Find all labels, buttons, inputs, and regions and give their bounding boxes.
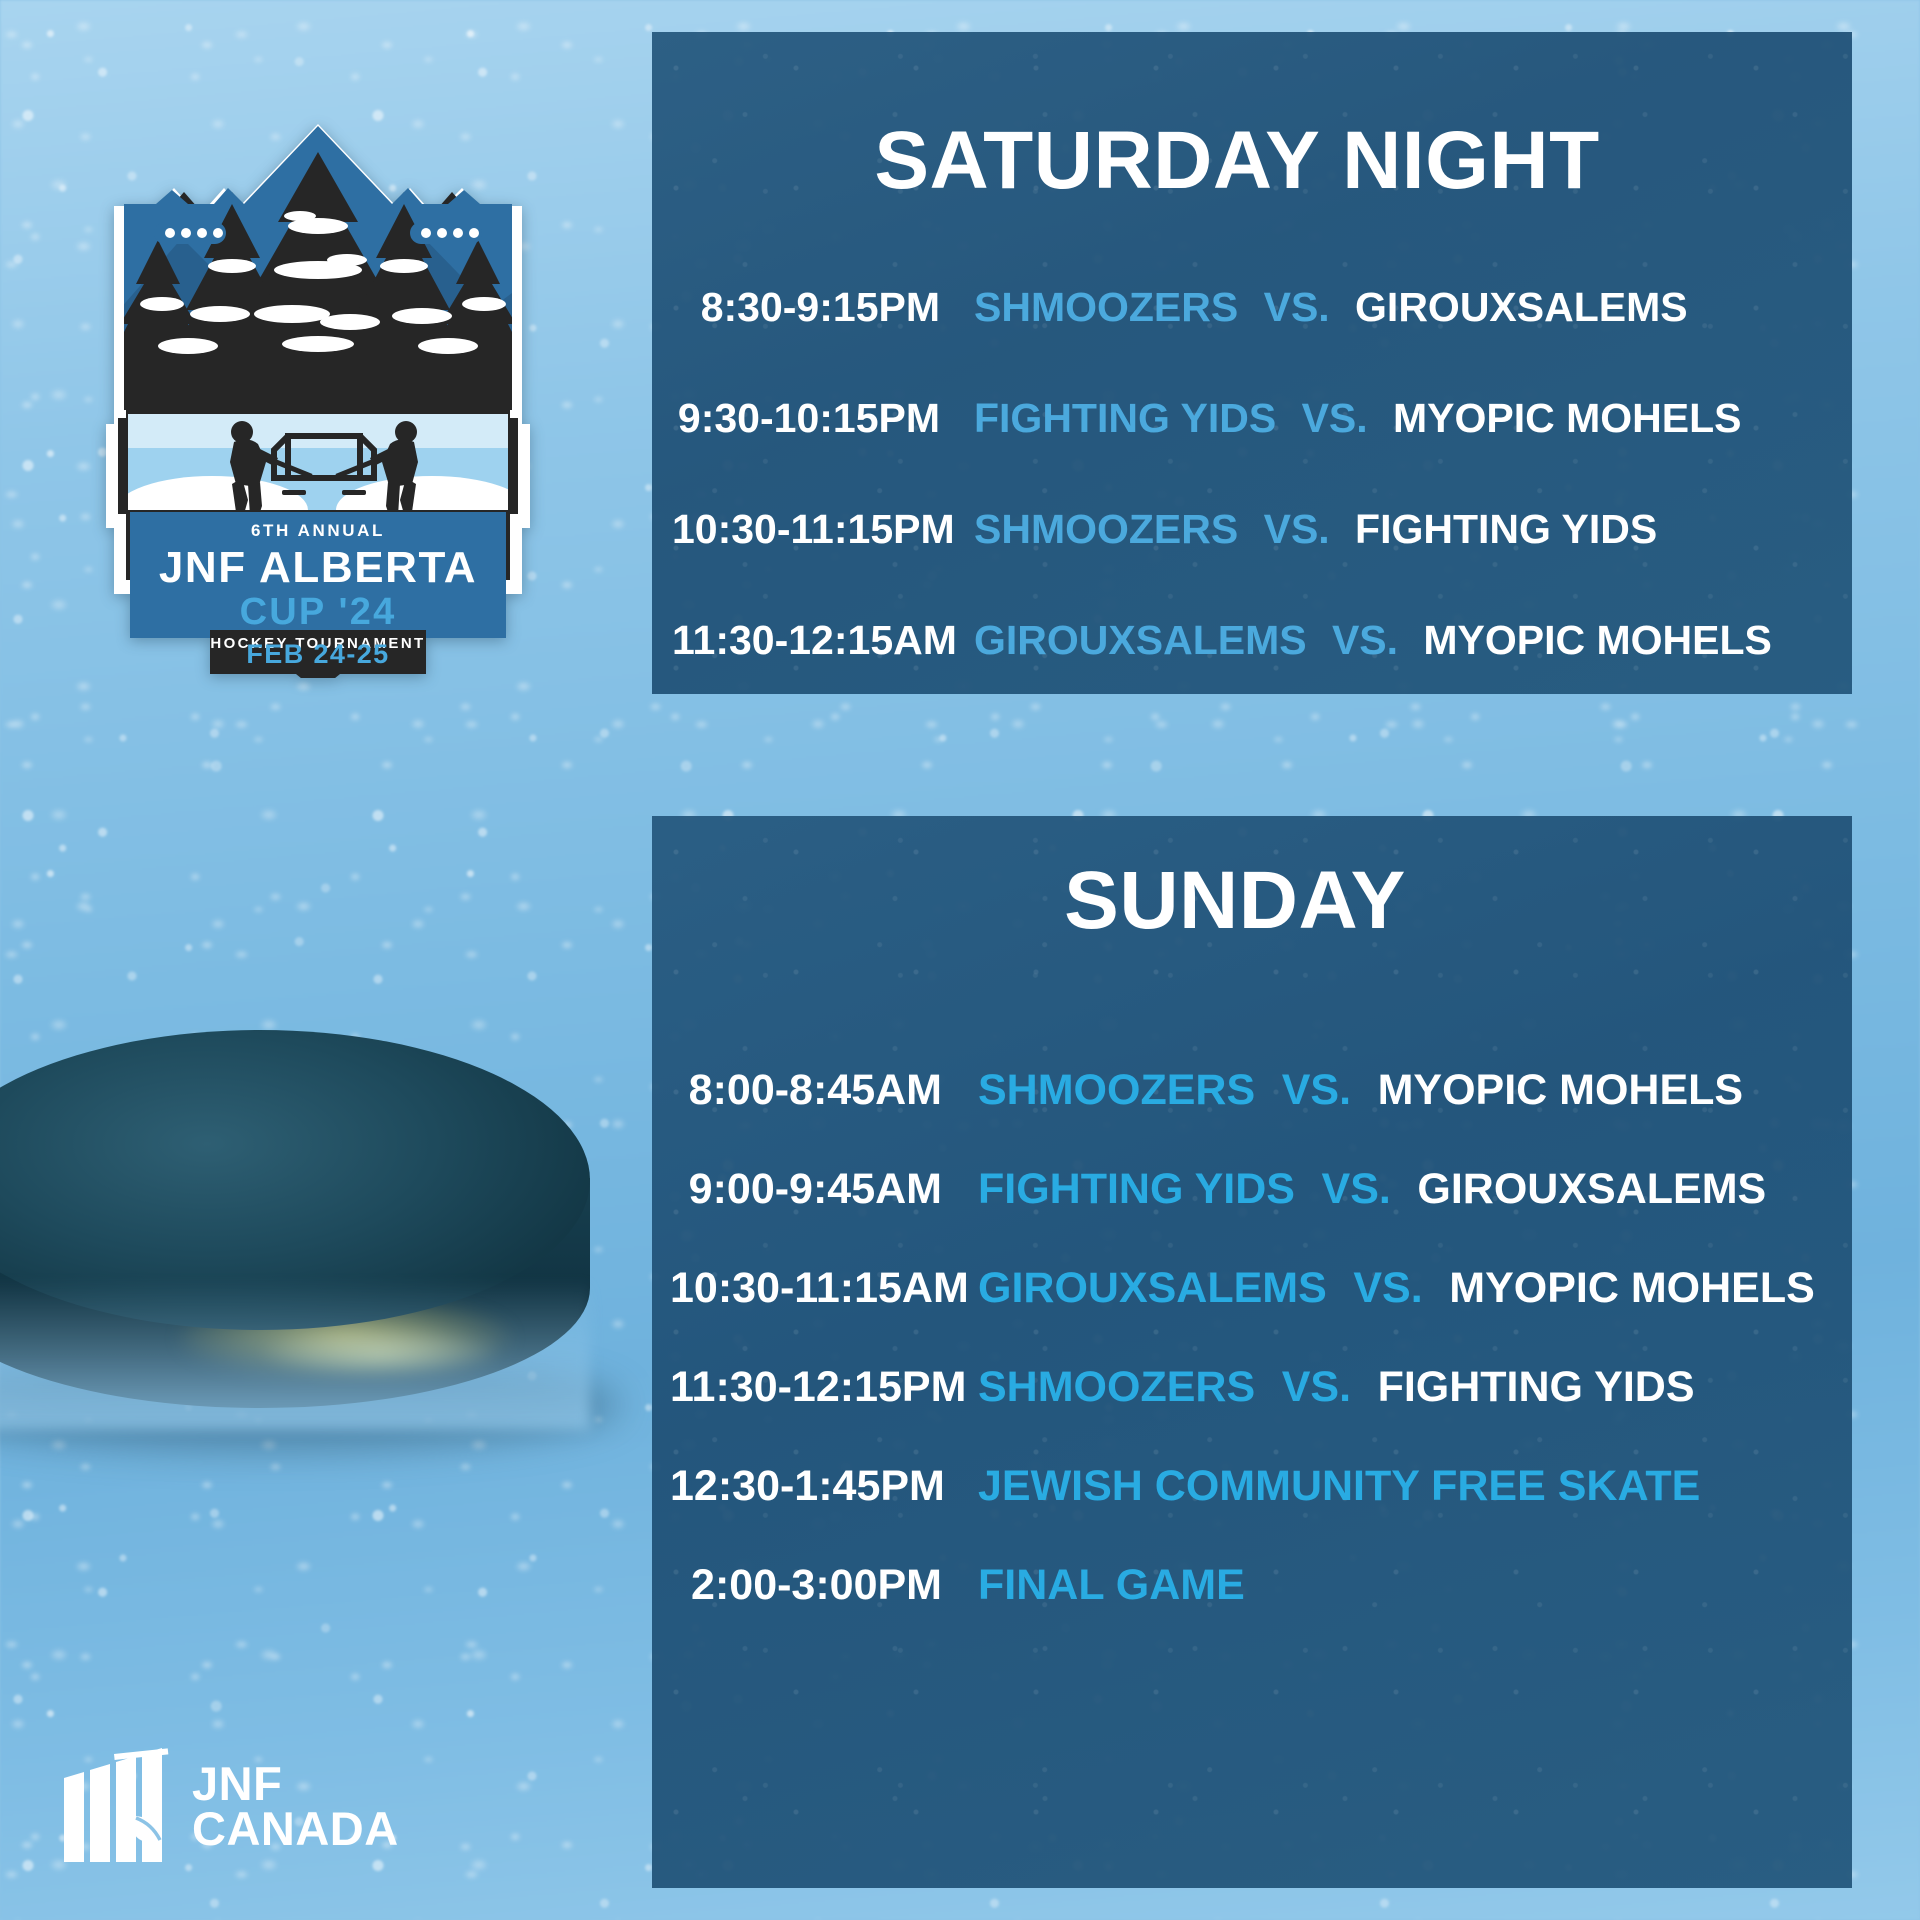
saturday-schedule-panel: SATURDAY NIGHT 8:30-9:15PM SHMOOZERS VS.…	[652, 32, 1852, 694]
schedule-row: 8:30-9:15PM SHMOOZERS VS. GIROUXSALEMS	[652, 284, 1852, 331]
vs-label: VS.	[1302, 395, 1368, 441]
jnf-line-1: JNF	[192, 1761, 399, 1806]
schedule-row: 9:00-9:45AM FIGHTING YIDS VS. GIROUXSALE…	[652, 1165, 1852, 1214]
schedule-row: 8:00-8:45AM SHMOOZERS VS. MYOPIC MOHELS	[652, 1066, 1852, 1115]
game-time: 11:30-12:15PM	[670, 1363, 942, 1412]
game-time: 9:00-9:45AM	[670, 1165, 942, 1214]
team-two: FIGHTING YIDS	[1378, 1363, 1695, 1411]
team-one: GIROUXSALEMS	[974, 617, 1307, 663]
schedule-row: 9:30-10:15PM FIGHTING YIDS VS. MYOPIC MO…	[652, 395, 1852, 442]
game-time: 11:30-12:15AM	[672, 617, 940, 664]
team-two: GIROUXSALEMS	[1355, 284, 1688, 330]
game-time: 8:30-9:15PM	[672, 284, 940, 331]
game-time: 2:00-3:00PM	[670, 1561, 942, 1610]
vs-label: VS.	[1332, 617, 1398, 663]
schedule-row: 2:00-3:00PM FINAL GAME	[652, 1561, 1852, 1610]
game-match: GIROUXSALEMS VS. MYOPIC MOHELS	[978, 1264, 1815, 1313]
schedule-row: 11:30-12:15PM SHMOOZERS VS. FIGHTING YID…	[652, 1363, 1852, 1412]
game-match: SHMOOZERS VS. FIGHTING YIDS	[974, 506, 1657, 553]
team-two: GIROUXSALEMS	[1417, 1165, 1766, 1213]
game-match: GIROUXSALEMS VS. MYOPIC MOHELS	[974, 617, 1772, 664]
team-two: MYOPIC MOHELS	[1423, 617, 1772, 663]
saturday-game-list: 8:30-9:15PM SHMOOZERS VS. GIROUXSALEMS 9…	[652, 284, 1852, 728]
puck-bottom-fade	[0, 1280, 590, 1430]
saturday-title: SATURDAY NIGHT	[652, 120, 1852, 202]
tournament-badge-logo: 6TH ANNUAL JNF ALBERTA CUP '24 HOCKEY TO…	[92, 118, 544, 678]
badge-annual-text: 6TH ANNUAL	[251, 521, 385, 540]
event-label: FINAL GAME	[978, 1561, 1245, 1609]
vs-label: VS.	[1264, 284, 1330, 330]
team-one: SHMOOZERS	[978, 1066, 1255, 1114]
vs-label: VS.	[1282, 1363, 1351, 1411]
team-one: SHMOOZERS	[978, 1363, 1255, 1411]
vs-label: VS.	[1264, 506, 1330, 552]
game-match: FIGHTING YIDS VS. GIROUXSALEMS	[978, 1165, 1766, 1214]
badge-title-text: JNF ALBERTA	[159, 543, 477, 592]
vs-label: VS.	[1353, 1264, 1422, 1312]
badge-cup-text: CUP '24	[240, 591, 397, 633]
jnf-mark-icon	[62, 1742, 170, 1870]
game-match: SHMOOZERS VS. GIROUXSALEMS	[974, 284, 1688, 331]
game-match: SHMOOZERS VS. FIGHTING YIDS	[978, 1363, 1695, 1412]
jnf-line-2: CANADA	[192, 1806, 399, 1851]
hockey-puck-image	[0, 1030, 610, 1450]
jnf-canada-logo: JNF CANADA	[62, 1742, 399, 1870]
game-time: 12:30-1:45PM	[670, 1462, 942, 1511]
badge-dates-text: FEB 24-25	[246, 639, 389, 669]
game-time: 9:30-10:15PM	[672, 395, 940, 442]
team-two: MYOPIC MOHELS	[1449, 1264, 1815, 1312]
game-match: FIGHTING YIDS VS. MYOPIC MOHELS	[974, 395, 1742, 442]
schedule-row: 11:30-12:15AM GIROUXSALEMS VS. MYOPIC MO…	[652, 617, 1852, 664]
game-match: JEWISH COMMUNITY FREE SKATE	[978, 1462, 1700, 1511]
game-time: 8:00-8:45AM	[670, 1066, 942, 1115]
vs-label: VS.	[1282, 1066, 1351, 1114]
event-label: JEWISH COMMUNITY FREE SKATE	[978, 1462, 1700, 1510]
team-one: SHMOOZERS	[974, 506, 1238, 552]
sunday-game-list: 8:00-8:45AM SHMOOZERS VS. MYOPIC MOHELS …	[652, 1066, 1852, 1660]
team-two: MYOPIC MOHELS	[1378, 1066, 1744, 1114]
vs-label: VS.	[1322, 1165, 1391, 1213]
team-one: FIGHTING YIDS	[978, 1165, 1295, 1213]
sunday-schedule-panel: SUNDAY 8:00-8:45AM SHMOOZERS VS. MYOPIC …	[652, 816, 1852, 1888]
schedule-row: 10:30-11:15PM SHMOOZERS VS. FIGHTING YID…	[652, 506, 1852, 553]
game-time: 10:30-11:15AM	[670, 1264, 942, 1313]
jnf-wordmark: JNF CANADA	[192, 1761, 399, 1851]
schedule-row: 12:30-1:45PM JEWISH COMMUNITY FREE SKATE	[652, 1462, 1852, 1511]
game-match: FINAL GAME	[978, 1561, 1245, 1610]
team-two: MYOPIC MOHELS	[1393, 395, 1742, 441]
game-match: SHMOOZERS VS. MYOPIC MOHELS	[978, 1066, 1743, 1115]
sunday-title: SUNDAY	[652, 860, 1852, 942]
schedule-row: 10:30-11:15AM GIROUXSALEMS VS. MYOPIC MO…	[652, 1264, 1852, 1313]
team-two: FIGHTING YIDS	[1355, 506, 1657, 552]
team-one: FIGHTING YIDS	[974, 395, 1276, 441]
game-time: 10:30-11:15PM	[672, 506, 940, 553]
team-one: GIROUXSALEMS	[978, 1264, 1327, 1312]
team-one: SHMOOZERS	[974, 284, 1238, 330]
